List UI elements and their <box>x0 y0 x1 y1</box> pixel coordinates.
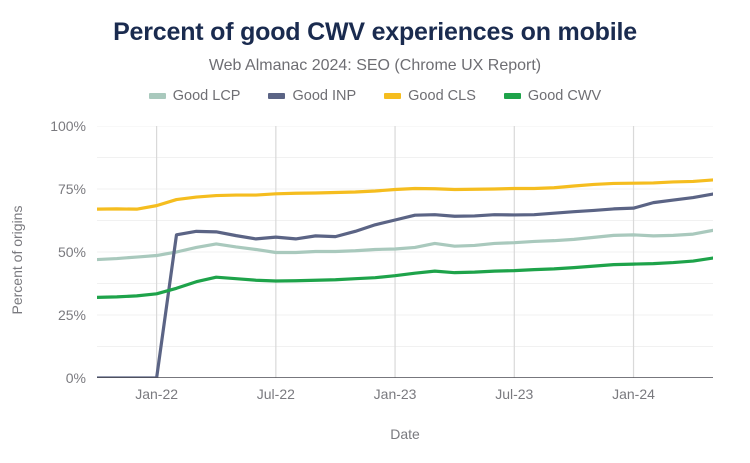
x-tick-label: Jul-22 <box>257 386 295 402</box>
x-tick-label: Jul-23 <box>495 386 533 402</box>
x-tick-label: Jan-24 <box>612 386 655 402</box>
y-axis-title: Percent of origins <box>9 180 25 340</box>
chart-container: Percent of good CWV experiences on mobil… <box>0 0 750 463</box>
x-axis-tick-labels: Jan-22Jul-22Jan-23Jul-23Jan-24 <box>0 0 750 463</box>
x-tick-label: Jan-23 <box>374 386 417 402</box>
x-axis-title: Date <box>97 426 713 442</box>
x-tick-label: Jan-22 <box>135 386 178 402</box>
